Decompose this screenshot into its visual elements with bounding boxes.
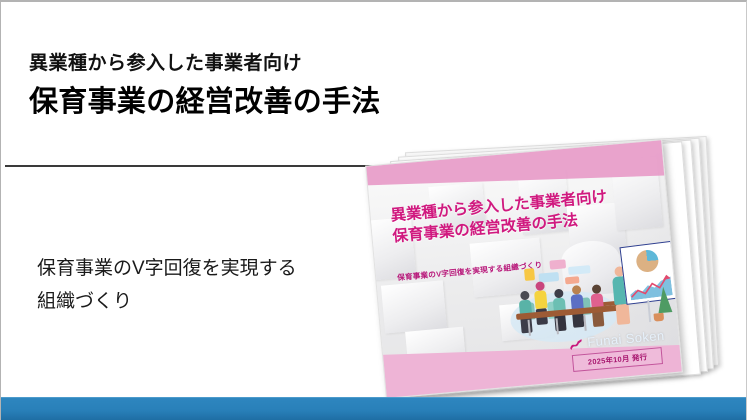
slide-canvas: 異業種から参入した事業者向け 保育事業の経営改善の手法 保育事業のV字回復を実現… xyxy=(0,0,747,420)
speech-bubble-icon xyxy=(549,259,566,269)
brochure-cover: 異業種から参入した事業者向け 保育事業の経営改善の手法 保育事業のV字回復を実現… xyxy=(365,139,683,399)
speech-bubble-icon xyxy=(568,265,591,275)
presenter-legs xyxy=(616,304,631,325)
headline-block: 異業種から参入した事業者向け 保育事業の経営改善の手法 xyxy=(29,52,429,121)
brochure-stack-image: 異業種から参入した事業者向け 保育事業の経営改善の手法 保育事業のV字回復を実現… xyxy=(373,140,733,388)
speech-bubble-icon xyxy=(524,268,535,281)
board-stand xyxy=(647,300,651,322)
subcopy-line-2: 組織づくり xyxy=(37,285,377,318)
eyebrow-text: 異業種から参入した事業者向け xyxy=(29,52,429,76)
person-torso xyxy=(534,290,548,309)
decor-block xyxy=(381,280,447,333)
bottom-blue-bar xyxy=(1,397,746,420)
plant-icon xyxy=(656,286,672,313)
subcopy-line-1: 保育事業のV字回復を実現する xyxy=(37,252,377,285)
page-title: 保育事業の経営改善の手法 xyxy=(29,84,429,122)
speech-bubble-icon xyxy=(565,276,580,284)
subcopy-block: 保育事業のV字回復を実現する 組織づくり xyxy=(37,252,377,319)
person-head xyxy=(592,284,602,294)
funai-soken-mark-icon xyxy=(568,337,584,350)
plant-pot-icon xyxy=(653,313,664,322)
